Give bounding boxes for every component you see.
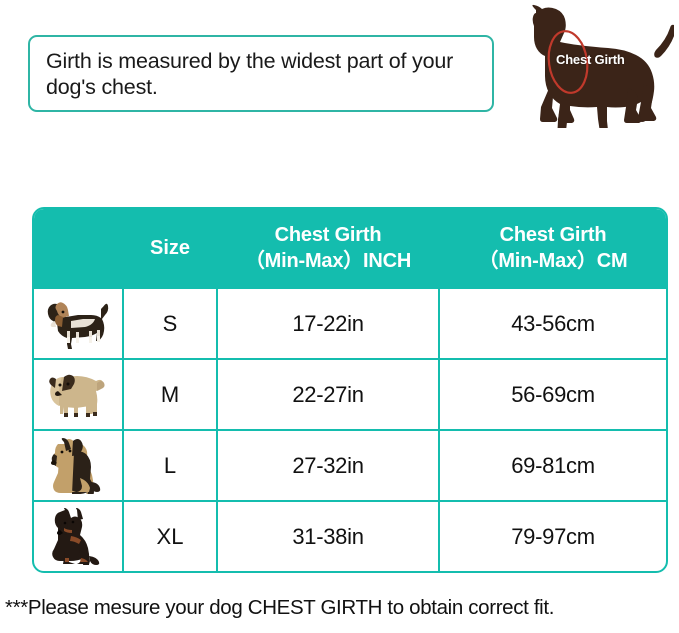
table-header: Size Chest Girth （Min-Max）INCH Chest Gir… (34, 209, 666, 289)
header-chest-girth-inch-line2: （Min-Max）INCH (218, 248, 438, 274)
girth-callout-text: Girth is measured by the widest part of … (46, 48, 476, 100)
chest-girth-cm-value: 69-81cm (440, 431, 666, 502)
table-row: L 27-32in 69-81cm (34, 431, 666, 502)
size-value: L (124, 431, 218, 502)
dog-image-cell (34, 502, 124, 571)
header-size: Size (124, 209, 218, 289)
chest-girth-inch-value: 22-27in (218, 360, 440, 431)
table-row: M 22-27in 56-69cm (34, 360, 666, 431)
footer-note: ***Please mesure your dog CHEST GIRTH to… (5, 596, 554, 620)
header-chest-girth-cm-line1: Chest Girth (440, 222, 666, 248)
size-value: M (124, 360, 218, 431)
header-chest-girth-cm-line2: （Min-Max）CM (440, 248, 666, 274)
table-row: S 17-22in 43-56cm (34, 289, 666, 360)
dog-girth-illustration: Chest Girth (506, 2, 674, 128)
table-header-row: Size Chest Girth （Min-Max）INCH Chest Gir… (34, 209, 666, 289)
chest-girth-cm-value: 56-69cm (440, 360, 666, 431)
table-row: XL 31-38in 79-97cm (34, 502, 666, 571)
size-value: XL (124, 502, 218, 571)
chest-girth-inch-value: 31-38in (218, 502, 440, 571)
chest-girth-inch-value: 27-32in (218, 431, 440, 502)
doberman-sitting-icon (51, 508, 105, 566)
chest-girth-cm-value: 79-97cm (440, 502, 666, 571)
pug-standing-icon (48, 369, 108, 421)
size-value: S (124, 289, 218, 360)
size-chart-table: Size Chest Girth （Min-Max）INCH Chest Gir… (32, 207, 668, 573)
dog-image-cell (34, 289, 124, 360)
dog-image-cell (34, 360, 124, 431)
table-body: S 17-22in 43-56cm M (34, 289, 666, 571)
chest-girth-cm-value: 43-56cm (440, 289, 666, 360)
header-chest-girth-cm: Chest Girth （Min-Max）CM (440, 209, 666, 289)
german-shepherd-sitting-icon (50, 438, 106, 494)
chest-girth-inch-value: 17-22in (218, 289, 440, 360)
chest-girth-label: Chest Girth (556, 52, 625, 67)
girth-callout-box: Girth is measured by the widest part of … (28, 35, 494, 112)
header-dog-image (34, 209, 124, 289)
header-chest-girth-inch-line1: Chest Girth (218, 222, 438, 248)
beagle-standing-icon (45, 299, 111, 349)
header-chest-girth-inch: Chest Girth （Min-Max）INCH (218, 209, 440, 289)
dog-image-cell (34, 431, 124, 502)
